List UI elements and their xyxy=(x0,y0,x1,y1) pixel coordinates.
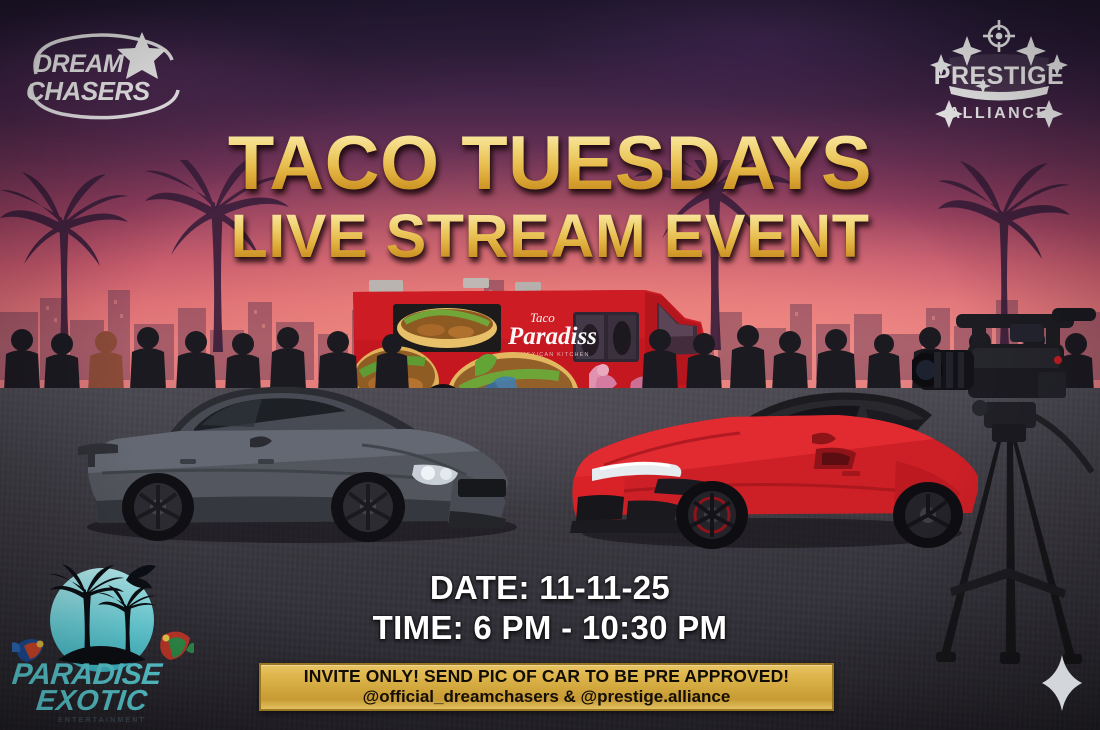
invite-only-banner: INVITE ONLY! SEND PIC OF CAR TO BE PRE A… xyxy=(259,663,834,711)
dream-chasers-star-icon xyxy=(117,32,167,79)
title-line-taco-tuesdays: TACO TUESDAYS xyxy=(0,126,1100,202)
event-flyer: Taco Paradiss MEXICAN KITCHEN xyxy=(0,0,1100,730)
sparkle-icon xyxy=(1040,655,1084,711)
banner-headline: INVITE ONLY! SEND PIC OF CAR TO BE PRE A… xyxy=(304,667,789,687)
prestige-line-1: PRESTIGE xyxy=(934,62,1064,90)
event-date: DATE: 11-11-25 xyxy=(0,568,1100,608)
prestige-line-2: ALLIANCE xyxy=(949,105,1050,122)
banner-social-handles: @official_dreamchasers & @prestige.allia… xyxy=(363,687,731,707)
dream-chasers-line-2: CHASERS xyxy=(26,76,151,106)
title-line-live-stream-event: LIVE STREAM EVENT xyxy=(0,206,1100,267)
event-date-time-block: DATE: 11-11-25 TIME: 6 PM - 10:30 PM xyxy=(0,568,1100,649)
paradise-line-2: EXOTIC xyxy=(35,685,150,717)
dream-chasers-logo: DREAM CHASERS xyxy=(18,18,186,128)
event-time: TIME: 6 PM - 10:30 PM xyxy=(0,608,1100,648)
prestige-alliance-logo: PRESTIGE ALLIANCE xyxy=(915,14,1083,136)
paradise-line-3: ENTERTAINMENT xyxy=(58,717,146,723)
flyer-title: TACO TUESDAYS LIVE STREAM EVENT xyxy=(0,126,1100,267)
dream-chasers-line-1: DREAM xyxy=(34,50,125,78)
crosshair-target-icon xyxy=(983,20,1015,52)
grey-nissan-skyline-car xyxy=(62,355,524,545)
